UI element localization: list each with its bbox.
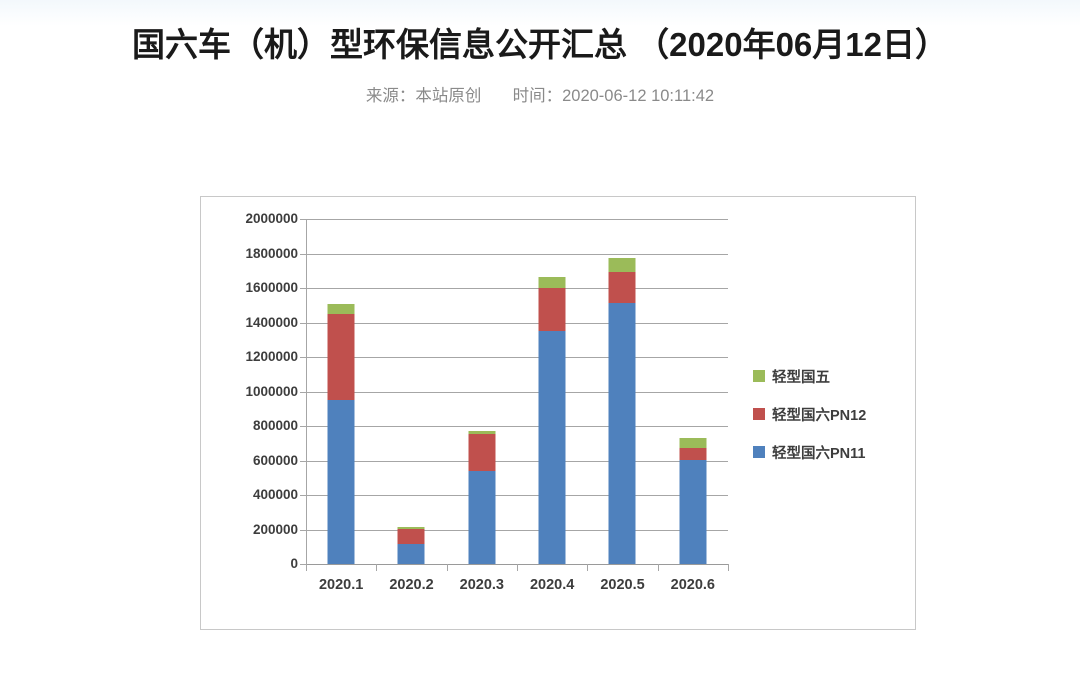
bar-segment[interactable] <box>328 400 355 564</box>
y-axis-tick-label: 200000 <box>253 523 298 537</box>
bar-group[interactable] <box>376 219 446 564</box>
bar-group[interactable] <box>658 219 728 564</box>
bar-segment[interactable] <box>539 331 566 564</box>
bar-segment[interactable] <box>609 303 636 564</box>
x-axis-tick-label: 2020.1 <box>306 575 376 595</box>
bar-group[interactable] <box>447 219 517 564</box>
bar-stack[interactable] <box>679 438 706 564</box>
bar-group[interactable] <box>587 219 657 564</box>
x-axis-tick <box>587 564 588 571</box>
bar-group[interactable] <box>306 219 376 564</box>
y-axis-tick-label: 1000000 <box>245 385 298 399</box>
legend-label: 轻型国六PN12 <box>772 404 866 425</box>
article-meta: 来源：本站原创 时间：2020-06-12 10:11:42 <box>0 68 1080 108</box>
x-axis-tick-label: 2020.2 <box>376 575 446 595</box>
bar-segment[interactable] <box>539 277 566 288</box>
bar-stack[interactable] <box>398 527 425 564</box>
bar-segment[interactable] <box>398 544 425 564</box>
y-axis-tick-label: 0 <box>290 557 298 571</box>
legend-item[interactable]: 轻型国六PN12 <box>753 395 903 433</box>
bar-group[interactable] <box>517 219 587 564</box>
y-axis-labels: 2000000180000016000001400000120000010000… <box>201 219 298 564</box>
legend-label: 轻型国五 <box>772 366 830 387</box>
y-axis-tick-label: 1200000 <box>245 350 298 364</box>
x-axis-tick <box>447 564 448 571</box>
bar-segment[interactable] <box>328 314 355 400</box>
bar-segment[interactable] <box>679 438 706 447</box>
bars-layer <box>306 219 728 564</box>
bar-stack[interactable] <box>609 258 636 564</box>
article-timestamp: 时间：2020-06-12 10:11:42 <box>513 87 715 105</box>
bar-segment[interactable] <box>468 434 495 471</box>
y-axis-tick-label: 2000000 <box>245 212 298 226</box>
plot-area <box>306 219 728 564</box>
article-source: 来源：本站原创 <box>366 87 482 105</box>
bar-stack[interactable] <box>468 431 495 564</box>
x-axis-tick-label: 2020.5 <box>587 575 657 595</box>
x-axis-tick-label: 2020.6 <box>658 575 728 595</box>
x-axis-tick <box>517 564 518 571</box>
legend-swatch-icon <box>753 370 765 382</box>
y-axis-tick-label: 600000 <box>253 454 298 468</box>
y-axis-tick-label: 1600000 <box>245 281 298 295</box>
x-axis-labels: 2020.12020.22020.32020.42020.52020.6 <box>306 575 728 597</box>
chart-inner: 2000000180000016000001400000120000010000… <box>201 197 915 629</box>
y-axis-tick-label: 800000 <box>253 419 298 433</box>
bar-segment[interactable] <box>679 460 706 564</box>
bar-segment[interactable] <box>328 304 355 314</box>
x-axis-tick-label: 2020.3 <box>447 575 517 595</box>
legend-swatch-icon <box>753 408 765 420</box>
bar-segment[interactable] <box>468 471 495 564</box>
y-axis-tick-label: 400000 <box>253 488 298 502</box>
bar-segment[interactable] <box>539 288 566 331</box>
x-axis-tick <box>658 564 659 571</box>
bar-segment[interactable] <box>398 529 425 545</box>
x-axis-tick <box>376 564 377 571</box>
x-axis-tick-label: 2020.4 <box>517 575 587 595</box>
bar-stack[interactable] <box>539 277 566 564</box>
bar-segment[interactable] <box>609 272 636 302</box>
y-axis-tick-label: 1400000 <box>245 316 298 330</box>
bar-stack[interactable] <box>328 304 355 564</box>
y-axis-tick-label: 1800000 <box>245 247 298 261</box>
chart-legend: 轻型国五轻型国六PN12轻型国六PN11 <box>753 357 903 471</box>
legend-item[interactable]: 轻型国六PN11 <box>753 433 903 471</box>
bar-segment[interactable] <box>609 258 636 273</box>
chart-frame: 2000000180000016000001400000120000010000… <box>200 196 916 630</box>
bar-segment[interactable] <box>679 448 706 460</box>
page-title: 国六车（机）型环保信息公开汇总 （2020年06月12日） <box>0 0 1080 68</box>
legend-swatch-icon <box>753 446 765 458</box>
legend-item[interactable]: 轻型国五 <box>753 357 903 395</box>
legend-label: 轻型国六PN11 <box>772 442 865 463</box>
article-container: 国六车（机）型环保信息公开汇总 （2020年06月12日） 来源：本站原创 时间… <box>0 0 1080 108</box>
x-axis-tick <box>306 564 307 571</box>
x-axis-tick <box>728 564 729 571</box>
